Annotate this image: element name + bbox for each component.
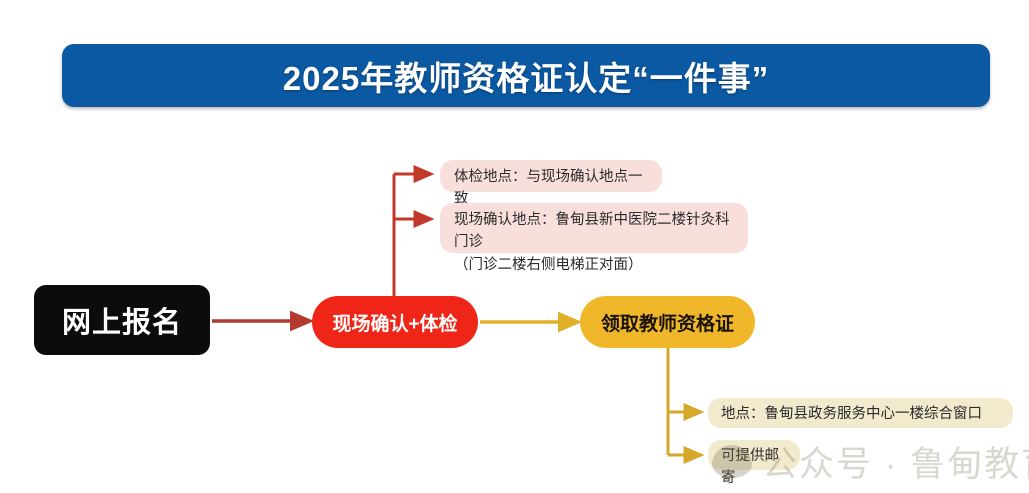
node-online-registration-label: 网上报名 (62, 299, 182, 341)
node-collect-certificate[interactable]: 领取教师资格证 (580, 296, 755, 348)
callout-onsite-confirm-location: 现场确认地点：鲁甸县新中医院二楼针灸科门诊 （门诊二楼右侧电梯正对面） (440, 203, 748, 253)
page-title: 2025年教师资格证认定“一件事” (62, 44, 990, 107)
node-onsite-confirm-medical[interactable]: 现场确认+体检 (312, 296, 478, 348)
callout-mail-option: 可提供邮寄 (708, 440, 800, 470)
callout-medical-location: 体检地点：与现场确认地点一致 (440, 160, 662, 192)
node-collect-certificate-label: 领取教师资格证 (601, 309, 734, 336)
infographic-canvas: 2025年教师资格证认定“一件事” (0, 0, 1029, 493)
node-online-registration[interactable]: 网上报名 (34, 285, 210, 355)
watermark-text: 公众号 · 鲁甸教育 (762, 436, 1029, 487)
callout-collect-location: 地点：鲁甸县政务服务中心一楼综合窗口 (708, 398, 1013, 428)
title-banner: 2025年教师资格证认定“一件事” (62, 44, 990, 107)
node-onsite-confirm-medical-label: 现场确认+体检 (332, 309, 457, 336)
